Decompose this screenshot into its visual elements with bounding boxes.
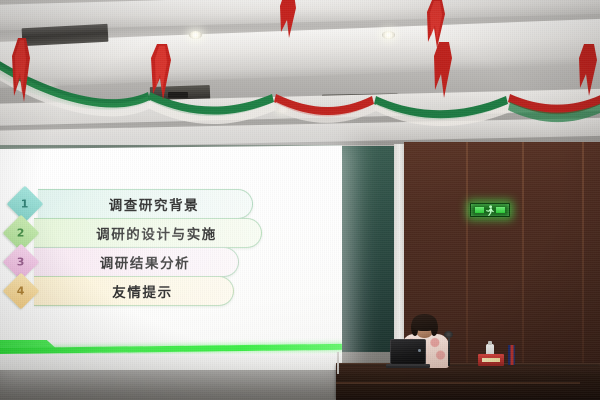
ceiling-downlight	[382, 31, 395, 39]
agenda-row-number: 3	[17, 256, 25, 269]
door-seam	[522, 142, 524, 374]
agenda-row-bar: 调研结果分析	[34, 247, 239, 277]
agenda-row-bar: 调研的设计与实施	[34, 218, 262, 248]
ceiling-swag-decoration	[0, 48, 600, 126]
ceiling	[0, 0, 600, 150]
microphone-icon	[444, 331, 453, 338]
laptop-base	[386, 364, 430, 368]
agenda-row-bar: 友情提示	[34, 276, 234, 306]
projection-screen: 调查研究背景 1 调研的设计与实施 2 调研结果分析 3	[0, 145, 342, 370]
ceiling-downlight	[189, 31, 202, 39]
green-wall-panel	[339, 146, 397, 352]
presenter-hair	[412, 314, 437, 331]
red-box-label	[482, 358, 500, 362]
door-seam	[582, 142, 584, 374]
hanging-cable	[337, 352, 339, 374]
laptop-logo	[418, 349, 421, 352]
agenda-row-label: 友情提示	[94, 281, 172, 301]
agenda-row-number: 4	[17, 285, 25, 298]
exit-sign-text-block	[475, 207, 484, 213]
conference-room-photo: 调查研究背景 1 调研的设计与实施 2 调研结果分析 3	[0, 0, 600, 400]
pen-holder	[508, 345, 515, 365]
agenda-row-number: 1	[21, 198, 29, 211]
exit-sign-arrow-block	[496, 207, 505, 213]
emergency-exit-sign	[470, 203, 510, 217]
bottle-cap	[488, 341, 492, 345]
red-fabric-bow	[430, 42, 458, 102]
running-man-icon	[485, 205, 495, 216]
door-seam	[466, 142, 468, 374]
agenda-row-number: 2	[17, 227, 25, 240]
laptop[interactable]	[390, 339, 426, 365]
red-fabric-bow	[276, 0, 302, 42]
exit-sign-glyph	[475, 205, 505, 216]
microphone-stand	[448, 336, 450, 366]
agenda-row-label: 调查研究背景	[91, 194, 200, 214]
podium-panel-groove	[336, 382, 580, 384]
red-fabric-bow	[576, 44, 600, 100]
agenda-row-bar: 调查研究背景	[38, 189, 253, 219]
slide-agenda-list: 调查研究背景 1 调研的设计与实施 2 调研结果分析 3	[0, 145, 342, 370]
red-fabric-bow	[145, 44, 179, 104]
agenda-row-label: 调研的设计与实施	[78, 223, 217, 243]
screen-bottom-strip	[0, 354, 342, 370]
agenda-row-label: 调研结果分析	[82, 252, 191, 272]
red-fabric-bow	[4, 38, 40, 106]
